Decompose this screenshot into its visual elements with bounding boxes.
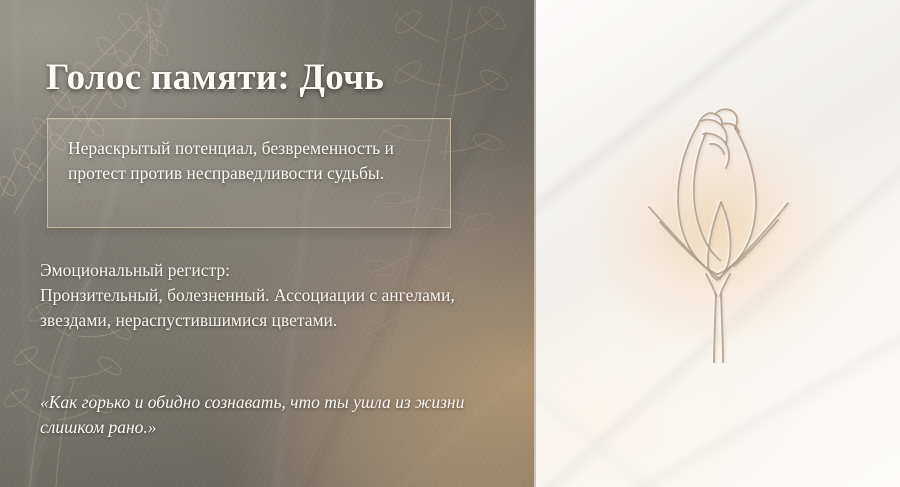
emotional-register-body: Пронзительный, болезненный. Ассоциации с… [40, 283, 510, 333]
emotional-register-label: Эмоциональный регистр: [40, 258, 510, 283]
right-image-panel [534, 0, 900, 487]
rose-illustration [602, 84, 832, 364]
callout-text: Нераскрытый потенциал, безвременность и … [68, 136, 430, 186]
emotional-register-block: Эмоциональный регистр: Пронзительный, бо… [40, 258, 510, 334]
memorial-quote: «Как горько и обидно сознавать, что ты у… [40, 390, 510, 441]
panel-divider [534, 0, 536, 487]
left-content-panel: Голос памяти: Дочь Нераскрытый потенциал… [0, 0, 534, 487]
rose-bud-icon [602, 84, 832, 364]
callout-box: Нераскрытый потенциал, безвременность и … [47, 118, 451, 228]
slide-root: Голос памяти: Дочь Нераскрытый потенциал… [0, 0, 900, 487]
page-title: Голос памяти: Дочь [46, 58, 384, 99]
